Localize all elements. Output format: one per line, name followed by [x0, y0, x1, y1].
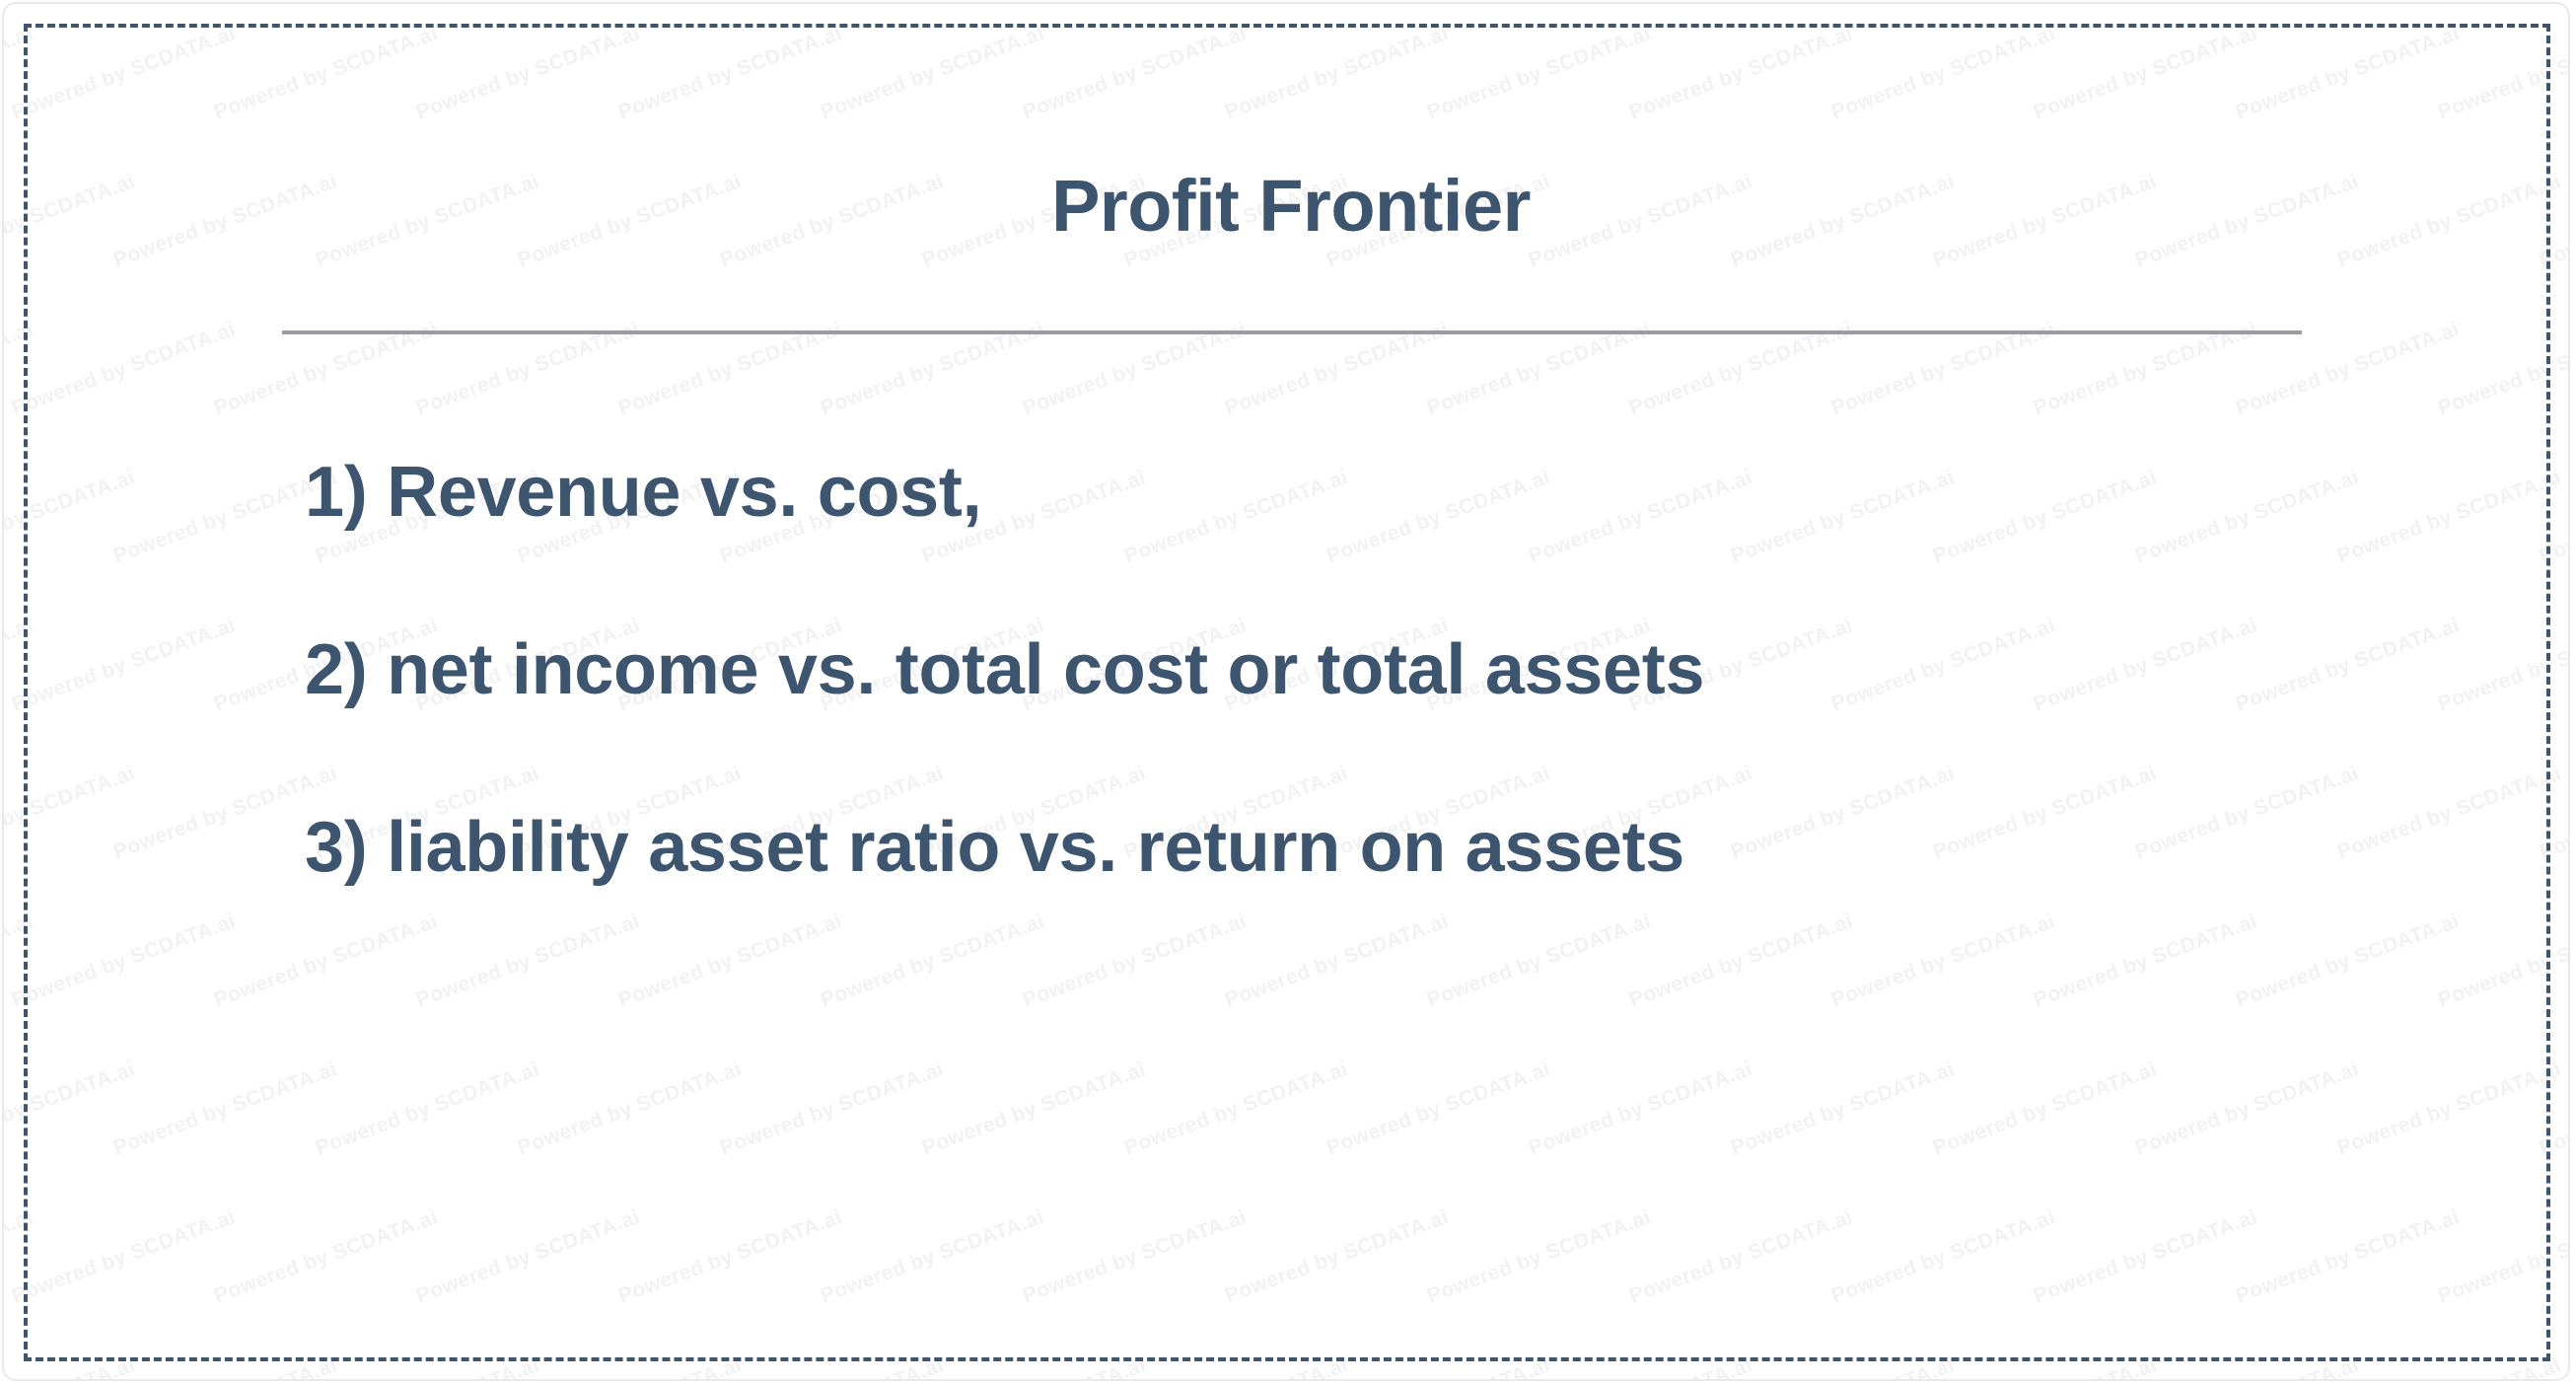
page-title: Profit Frontier: [280, 170, 2302, 243]
slide-card: Powered by SCDATA.aiPowered by SCDATA.ai…: [2, 2, 2570, 1381]
title-divider: [282, 330, 2302, 334]
bullet-item: 3) liability asset ratio vs. return on a…: [305, 759, 2524, 936]
bullet-list: 1) Revenue vs. cost, 2) net income vs. t…: [305, 403, 2524, 936]
slide-content: Profit Frontier 1) Revenue vs. cost, 2) …: [4, 4, 2568, 1379]
bullet-item: 2) net income vs. total cost or total as…: [305, 581, 2524, 759]
bullet-item: 1) Revenue vs. cost,: [305, 403, 2524, 581]
